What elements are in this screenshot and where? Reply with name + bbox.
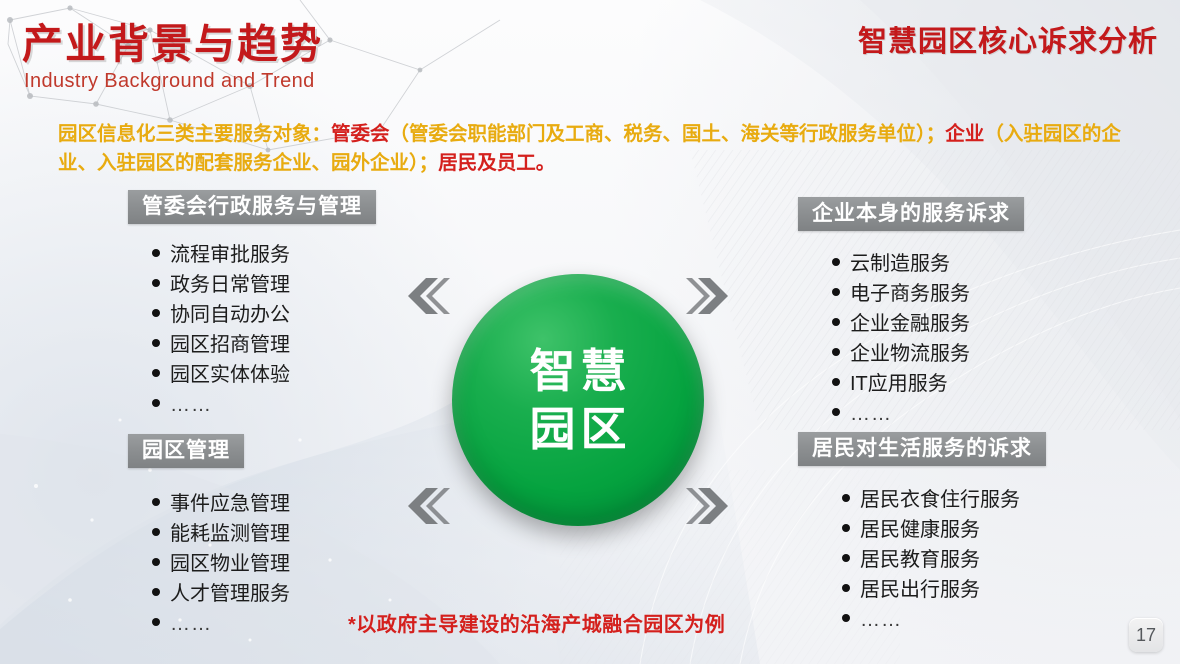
list-item-label: IT应用服务 bbox=[850, 369, 948, 399]
lead-paragraph: 园区信息化三类主要服务对象：管委会（管委会职能部门及工商、税务、国土、海关等行政… bbox=[58, 120, 1122, 178]
list-item-label: 协同自动办公 bbox=[170, 300, 290, 330]
bullet-icon bbox=[832, 378, 840, 386]
panel-heading-resident: 居民对生活服务的诉求 bbox=[798, 432, 1046, 466]
list-item: 企业金融服务 bbox=[832, 309, 970, 339]
chevron-left-icon-top-left bbox=[404, 276, 450, 316]
bullet-icon bbox=[832, 258, 840, 266]
panel-heading-park: 园区管理 bbox=[128, 434, 244, 468]
bullet-icon bbox=[152, 309, 160, 317]
page-title: 产业背景与趋势 bbox=[22, 10, 323, 70]
list-item-label: …… bbox=[850, 399, 892, 429]
list-item-label: 事件应急管理 bbox=[170, 489, 290, 519]
panel-heading-enterprise: 企业本身的服务诉求 bbox=[798, 197, 1024, 231]
bullet-icon bbox=[152, 528, 160, 536]
list-item-label: 能耗监测管理 bbox=[170, 519, 290, 549]
bullet-icon bbox=[832, 348, 840, 356]
hub-label-line2: 园区 bbox=[525, 400, 632, 458]
list-item: 居民衣食住行服务 bbox=[842, 485, 1020, 515]
bullet-icon bbox=[832, 318, 840, 326]
list-item: …… bbox=[842, 605, 1020, 635]
list-item: 能耗监测管理 bbox=[152, 519, 290, 549]
panel-list-park: 事件应急管理能耗监测管理园区物业管理人才管理服务…… bbox=[152, 489, 290, 639]
list-item-label: 人才管理服务 bbox=[170, 579, 290, 609]
center-hub-circle: 智慧 园区 bbox=[452, 274, 704, 526]
bullet-icon bbox=[152, 588, 160, 596]
lead-segment-1: 园区信息化三类主要服务对象： bbox=[58, 123, 331, 145]
chevron-right-icon-bottom-right bbox=[686, 486, 732, 526]
list-item: 园区物业管理 bbox=[152, 549, 290, 579]
list-item: 事件应急管理 bbox=[152, 489, 290, 519]
list-item-label: …… bbox=[860, 605, 902, 635]
list-item-label: 电子商务服务 bbox=[850, 279, 970, 309]
list-item-label: …… bbox=[170, 390, 212, 420]
list-item: 协同自动办公 bbox=[152, 300, 290, 330]
list-item-label: 云制造服务 bbox=[850, 249, 950, 279]
bullet-icon bbox=[842, 584, 850, 592]
panel-heading-admin: 管委会行政服务与管理 bbox=[128, 190, 376, 224]
list-item: 居民教育服务 bbox=[842, 545, 1020, 575]
bullet-icon bbox=[842, 614, 850, 622]
list-item-label: 流程审批服务 bbox=[170, 240, 290, 270]
bullet-icon bbox=[152, 249, 160, 257]
panel-list-admin: 流程审批服务政务日常管理协同自动办公园区招商管理园区实体体验…… bbox=[152, 240, 290, 420]
chevron-right-icon-top-right bbox=[686, 276, 732, 316]
bullet-icon bbox=[152, 558, 160, 566]
panel-list-resident: 居民衣食住行服务居民健康服务居民教育服务居民出行服务…… bbox=[842, 485, 1020, 635]
list-item-label: 居民衣食住行服务 bbox=[860, 485, 1020, 515]
bullet-icon bbox=[832, 288, 840, 296]
lead-highlight-1: 管委会 bbox=[331, 123, 390, 145]
list-item: IT应用服务 bbox=[832, 369, 970, 399]
list-item-label: 政务日常管理 bbox=[170, 270, 290, 300]
page-title-right: 智慧园区核心诉求分析 bbox=[858, 18, 1158, 60]
page-number-badge: 17 bbox=[1129, 618, 1163, 652]
bullet-icon bbox=[152, 339, 160, 347]
chevron-left-icon-bottom-left bbox=[404, 486, 450, 526]
list-item: 居民健康服务 bbox=[842, 515, 1020, 545]
bullet-icon bbox=[152, 399, 160, 407]
bullet-icon bbox=[842, 554, 850, 562]
list-item: 人才管理服务 bbox=[152, 579, 290, 609]
lead-highlight-2: 企业 bbox=[945, 123, 984, 145]
list-item-label: 企业物流服务 bbox=[850, 339, 970, 369]
list-item: 政务日常管理 bbox=[152, 270, 290, 300]
list-item: 园区实体体验 bbox=[152, 360, 290, 390]
list-item: 企业物流服务 bbox=[832, 339, 970, 369]
bullet-icon bbox=[152, 618, 160, 626]
list-item-label: 居民健康服务 bbox=[860, 515, 980, 545]
list-item: …… bbox=[152, 609, 290, 639]
bullet-icon bbox=[152, 369, 160, 377]
list-item: 居民出行服务 bbox=[842, 575, 1020, 605]
list-item-label: 企业金融服务 bbox=[850, 309, 970, 339]
list-item: 云制造服务 bbox=[832, 249, 970, 279]
list-item: …… bbox=[152, 390, 290, 420]
list-item-label: 园区物业管理 bbox=[170, 549, 290, 579]
hub-label-line1: 智慧 bbox=[525, 342, 632, 400]
lead-segment-2: （管委会职能部门及工商、税务、国土、海关等行政服务单位）； bbox=[390, 123, 946, 145]
list-item: 流程审批服务 bbox=[152, 240, 290, 270]
bullet-icon bbox=[152, 498, 160, 506]
slide-header: 产业背景与趋势 Industry Background and Trend 智慧… bbox=[0, 0, 1180, 108]
list-item: 电子商务服务 bbox=[832, 279, 970, 309]
slide-canvas: 产业背景与趋势 Industry Background and Trend 智慧… bbox=[0, 0, 1180, 664]
list-item-label: 居民出行服务 bbox=[860, 575, 980, 605]
list-item-label: 园区招商管理 bbox=[170, 330, 290, 360]
bullet-icon bbox=[842, 524, 850, 532]
bullet-icon bbox=[842, 494, 850, 502]
list-item-label: …… bbox=[170, 609, 212, 639]
footnote: *以政府主导建设的沿海产城融合园区为例 bbox=[348, 608, 725, 637]
page-subtitle: Industry Background and Trend bbox=[24, 70, 315, 93]
list-item: …… bbox=[832, 399, 970, 429]
list-item-label: 园区实体体验 bbox=[170, 360, 290, 390]
panel-list-enterprise: 云制造服务电子商务服务企业金融服务企业物流服务IT应用服务…… bbox=[832, 249, 970, 429]
list-item-label: 居民教育服务 bbox=[860, 545, 980, 575]
bullet-icon bbox=[832, 408, 840, 416]
lead-highlight-3: 居民及员工。 bbox=[438, 152, 555, 174]
bullet-icon bbox=[152, 279, 160, 287]
list-item: 园区招商管理 bbox=[152, 330, 290, 360]
